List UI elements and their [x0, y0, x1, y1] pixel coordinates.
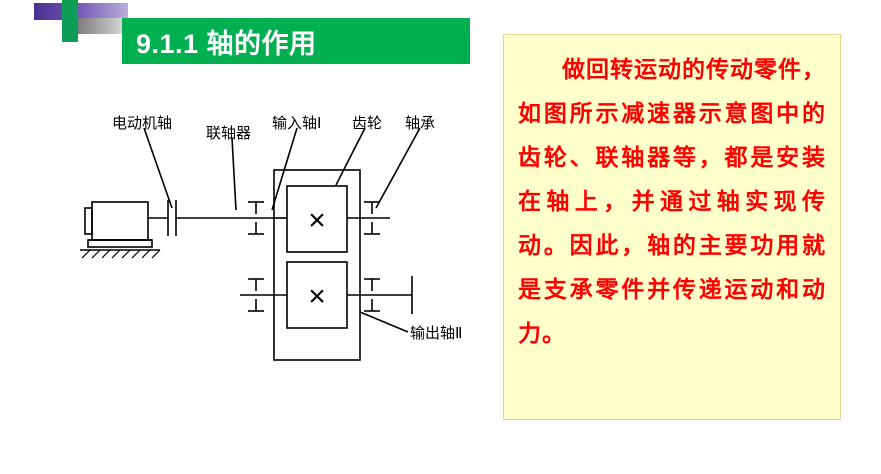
gear-upper-cross-mark: ×	[308, 204, 326, 237]
motor-end-cap	[85, 208, 92, 234]
description-panel: 做回转运动的传动零件，如图所示减速器示意图中的齿轮、联轴器等，都是安装在轴上，并…	[503, 34, 841, 420]
label-coupling: 联轴器	[206, 122, 251, 143]
leader-output-shaft	[360, 312, 408, 332]
reducer-schematic-diagram: × × 电动机轴 联轴器 输入轴Ⅰ 齿轮 轴承 输出轴Ⅱ	[60, 90, 490, 400]
label-bearing: 轴承	[405, 112, 435, 133]
page-title: 9.1.1 轴的作用	[122, 22, 317, 61]
label-gear: 齿轮	[352, 112, 382, 133]
schematic-svg: × ×	[60, 90, 490, 400]
label-output-shaft: 输出轴Ⅱ	[410, 322, 462, 343]
description-body: 做回转运动的传动零件，如图所示减速器示意图中的齿轮、联轴器等，都是安装在轴上，并…	[518, 56, 826, 346]
leader-motor-shaft	[144, 128, 172, 208]
label-input-shaft: 输入轴Ⅰ	[272, 112, 321, 133]
decor-bar-gray	[78, 18, 128, 34]
leader-input-shaft	[272, 128, 297, 210]
title-banner: 9.1.1 轴的作用	[122, 18, 470, 64]
motor-body	[92, 202, 148, 240]
decor-bar-green	[62, 0, 78, 42]
leader-coupling	[232, 138, 236, 210]
leader-bearing	[376, 128, 420, 208]
description-text: 做回转运动的传动零件，如图所示减速器示意图中的齿轮、联轴器等，都是安装在轴上，并…	[518, 47, 826, 355]
motor-base	[88, 240, 152, 247]
label-motor-shaft: 电动机轴	[112, 112, 172, 133]
gear-lower-cross-mark: ×	[308, 280, 326, 313]
ground-hatching	[82, 250, 160, 258]
